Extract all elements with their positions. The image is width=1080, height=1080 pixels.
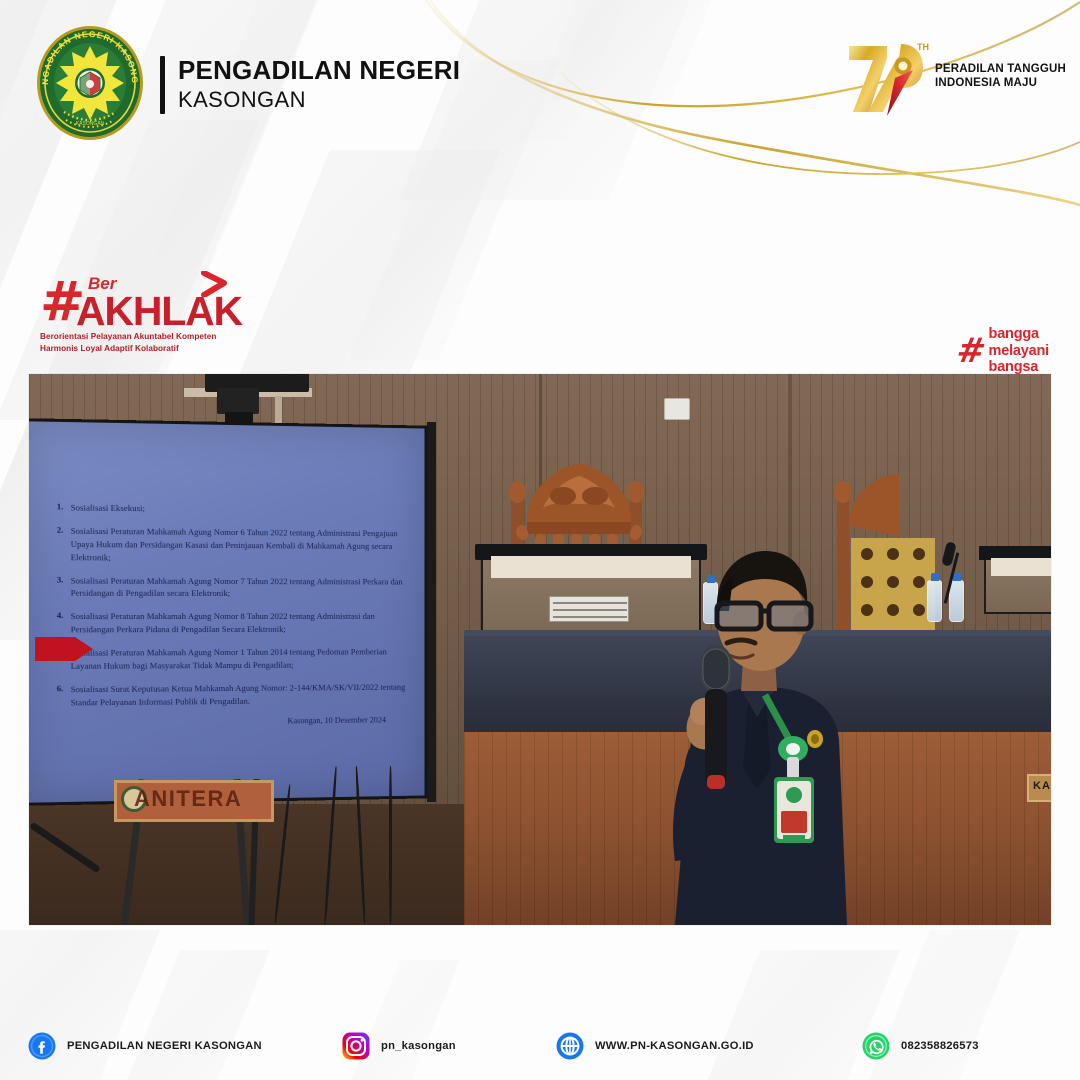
page-title: PENGADILAN NEGERI — [178, 56, 460, 85]
slide-list-item: 2. Sosialisasi Peraturan Mahkamah Agung … — [57, 524, 407, 565]
slide-list-item: 4. Sosialisasi Peraturan Mahkamah Agung … — [57, 610, 407, 636]
bangga-hash-icon: # — [954, 334, 986, 368]
globe-icon[interactable] — [556, 1032, 584, 1060]
svg-text:KASONGAN: KASONGAN — [76, 121, 105, 127]
presentation-screen: 1. Sosialisasi Eksekusi; 2. Sosialisasi … — [29, 418, 427, 806]
berakhlak-tagline-line2: Harmonis Loyal Adaptif Kolaboratif — [40, 343, 225, 355]
facebook-icon[interactable] — [28, 1032, 56, 1060]
social-item-facebook[interactable]: PENGADILAN NEGERI KASONGAN — [28, 1032, 262, 1060]
projector-head — [217, 388, 259, 414]
water-bottle — [949, 580, 964, 622]
anniversary-logo: TH PERADILAN TANGGUH INDONESIA MAJU — [843, 36, 1066, 118]
wall-outlet — [664, 398, 690, 420]
slide-list-item: 1. Sosialisasi Eksekusi; — [57, 501, 407, 517]
court-emblem-logo: KASONGAN PENGADILAN NEGERI KASONGAN — [34, 24, 146, 142]
social-item-whatsapp[interactable]: 082358826573 — [862, 1032, 979, 1060]
header-title-block: PENGADILAN NEGERI KASONGAN — [160, 56, 460, 114]
title-divider-rule — [160, 56, 165, 114]
svg-text:TH: TH — [917, 42, 929, 52]
social-label-instagram: pn_kasongan — [381, 1040, 456, 1052]
whatsapp-icon[interactable] — [862, 1032, 890, 1060]
slide-content: 1. Sosialisasi Eksekusi; 2. Sosialisasi … — [57, 501, 407, 719]
instagram-icon[interactable] — [342, 1032, 370, 1060]
slide-date-line: Kasongan, 10 Desember 2024 — [288, 715, 386, 725]
slide-list-item: 3. Sosialisasi Peraturan Mahkamah Agung … — [57, 574, 407, 601]
bangga-melayani-bangsa-logo: # bangga melayani bangsa — [957, 326, 1049, 376]
bangga-line1: bangga — [989, 326, 1049, 343]
cable — [389, 766, 392, 925]
slide-list-item: 6. Sosialisasi Surat Keputusan Ketua Mah… — [57, 681, 407, 710]
lectern-vent-panel — [549, 596, 629, 622]
social-label-whatsapp: 082358826573 — [901, 1040, 979, 1052]
social-label-facebook: PENGADILAN NEGERI KASONGAN — [67, 1040, 262, 1052]
speaker-person — [629, 539, 889, 925]
panitera-signboard-label: ANITERA — [134, 786, 242, 812]
bangga-line2: melayani — [989, 343, 1049, 360]
chevron-right-icon — [200, 271, 228, 297]
berakhlak-logo: # Ber AKHLAK Berorientasi Pelayanan Akun… — [40, 271, 225, 353]
screen-frame-edge — [427, 422, 436, 802]
header: KASONGAN PENGADILAN NEGERI KASONGAN PENG… — [0, 0, 1080, 160]
anniversary-tagline-line1: PERADILAN TANGGUH — [935, 63, 1066, 77]
slide-list-item: 5. Sosialisasi Peraturan Mahkamah Agung … — [57, 646, 407, 673]
social-label-website: WWW.PN-KASONGAN.GO.ID — [595, 1040, 754, 1052]
water-bottle — [927, 580, 942, 622]
event-photo: 1. Sosialisasi Eksekusi; 2. Sosialisasi … — [29, 374, 1051, 925]
anniversary-tagline-line2: INDONESIA MAJU — [935, 77, 1066, 91]
page-subtitle: KASONGAN — [178, 87, 460, 113]
social-item-instagram[interactable]: pn_kasongan — [342, 1032, 456, 1060]
right-desk-nameplate-label: KAS — [1033, 780, 1051, 792]
secondary-lectern-papers — [991, 558, 1051, 576]
red-pointer-arrow-icon — [35, 632, 95, 666]
berakhlak-akhlak-text: AKHLAK — [76, 291, 242, 332]
social-item-website[interactable]: WWW.PN-KASONGAN.GO.ID — [556, 1032, 754, 1060]
anniversary-79-mark: TH — [843, 36, 929, 118]
footer-social-bar: PENGADILAN NEGERI KASONGAN pn_kasongan — [0, 1016, 1080, 1080]
